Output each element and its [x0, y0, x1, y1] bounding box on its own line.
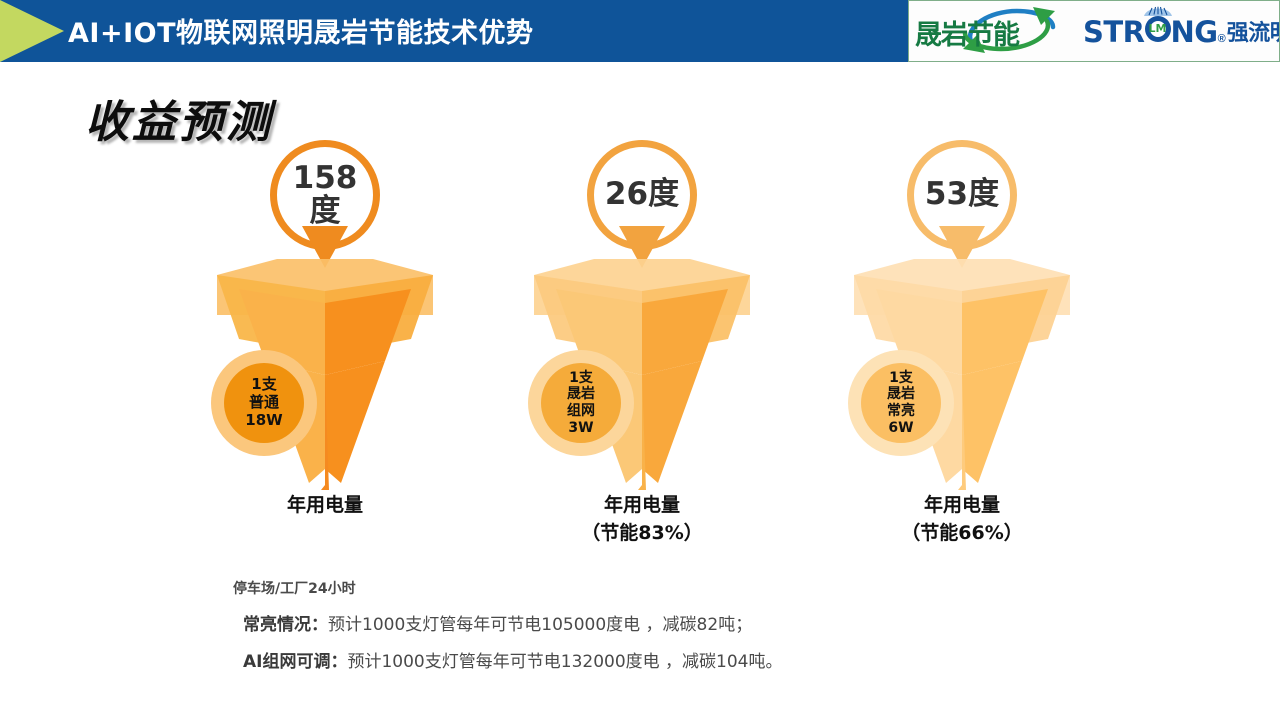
badge-line: 1支 — [251, 376, 276, 394]
footnote-text: 预计1000支灯管每年可节电105000度电 ，减碳82吨； — [328, 615, 752, 635]
logo-strong-suffix: NG — [1171, 18, 1218, 47]
pin-marker: 26 度 — [575, 140, 709, 274]
funnel-caption: 年用电量 （节能66%） — [832, 492, 1092, 547]
badge-core: 1支 晟岩 常亮 6W — [861, 363, 941, 443]
page-header-title: AI+IOT物联网照明晟岩节能技术优势 — [68, 11, 533, 50]
caption-main: 年用电量 — [604, 494, 680, 516]
brand-logo: 晟岩节能 STR LM NG ® 强流明照明 — [908, 0, 1280, 62]
pin-label: 53 度 — [907, 140, 1017, 250]
footnotes-block: 停车场/工厂24小时 常亮情况：预计1000支灯管每年可节电105000度电 ，… — [233, 578, 1133, 684]
logo-lm-badge: LM — [1148, 19, 1168, 39]
caption-sub: （节能83%） — [512, 520, 772, 548]
logo-strong-prefix: STR — [1083, 18, 1145, 47]
pin-value: 158 — [293, 162, 358, 195]
funnel-caption: 年用电量 （节能83%） — [512, 492, 772, 547]
badge-line: 18W — [245, 412, 282, 430]
badge-core: 1支 晟岩 组网 3W — [541, 363, 621, 443]
pin-unit: 度 — [968, 178, 999, 211]
logo-chinese-block: 晟岩节能 — [909, 1, 1081, 61]
footnote-lead: AI组网可调： — [243, 652, 347, 672]
pin-marker: 53 度 — [895, 140, 1029, 274]
pin-value: 53 — [925, 178, 968, 211]
logo-o-circle-icon: LM — [1145, 16, 1171, 42]
badge-line: 普通 — [249, 394, 279, 412]
badge-line: 组网 — [567, 403, 595, 420]
badge-marker: 1支 晟岩 常亮 6W — [848, 350, 954, 456]
pin-unit: 度 — [648, 178, 679, 211]
badge-line: 1支 — [569, 370, 593, 387]
logo-lm-text: LM — [1149, 23, 1167, 34]
caption-sub: （节能66%） — [832, 520, 1092, 548]
footnote-text: 预计1000支灯管每年可节电132000度电 ，减碳104吨。 — [347, 652, 782, 672]
logo-tagline: 强流明照明 — [1227, 15, 1280, 47]
pin-marker: 158 度 — [258, 140, 392, 274]
caption-main: 年用电量 — [287, 494, 363, 516]
footnote-lead: 常亮情况： — [243, 615, 328, 635]
pin-label: 26 度 — [587, 140, 697, 250]
badge-line: 6W — [888, 420, 913, 437]
badge-line: 1支 — [889, 370, 913, 387]
badge-core: 1支 普通 18W — [224, 363, 304, 443]
badge-marker: 1支 普通 18W — [211, 350, 317, 456]
badge-line: 晟岩 — [567, 386, 595, 403]
badge-marker: 1支 晟岩 组网 3W — [528, 350, 634, 456]
footnote-heading: 停车场/工厂24小时 — [233, 578, 1133, 598]
pin-unit: 度 — [310, 195, 341, 228]
caption-main: 年用电量 — [924, 494, 1000, 516]
funnel-caption: 年用电量 — [195, 492, 455, 520]
slide-root: AI+IOT物联网照明晟岩节能技术优势 晟岩节能 STR — [0, 0, 1280, 720]
logo-brand-block: STR LM NG ® 强流明照明 — [1081, 1, 1280, 61]
badge-line: 3W — [568, 420, 593, 437]
funnel-group: 26 度 1支 晟岩 组网 3W 年用电量 （节能83%） — [512, 140, 772, 560]
logo-registered-mark: ® — [1218, 33, 1226, 45]
pin-label: 158 度 — [270, 140, 380, 250]
logo-fan-icon — [1143, 3, 1173, 17]
footnote-line: 常亮情况：预计1000支灯管每年可节电105000度电 ，减碳82吨； — [243, 610, 1133, 635]
badge-line: 晟岩 — [887, 386, 915, 403]
pin-value: 26 — [605, 178, 648, 211]
logo-strong-wordmark: STR LM NG ® — [1083, 16, 1226, 47]
footnote-line: AI组网可调：预计1000支灯管每年可节电132000度电 ，减碳104吨。 — [243, 647, 1133, 672]
funnel-group: 158 度 1支 普通 18W 年用电量 — [195, 140, 455, 560]
funnel-group: 53 度 1支 晟岩 常亮 6W 年用电量 （节能66%） — [832, 140, 1092, 560]
header-arrow-icon — [0, 0, 64, 62]
logo-company-name: 晟岩节能 — [915, 13, 1019, 52]
badge-line: 常亮 — [887, 403, 915, 420]
